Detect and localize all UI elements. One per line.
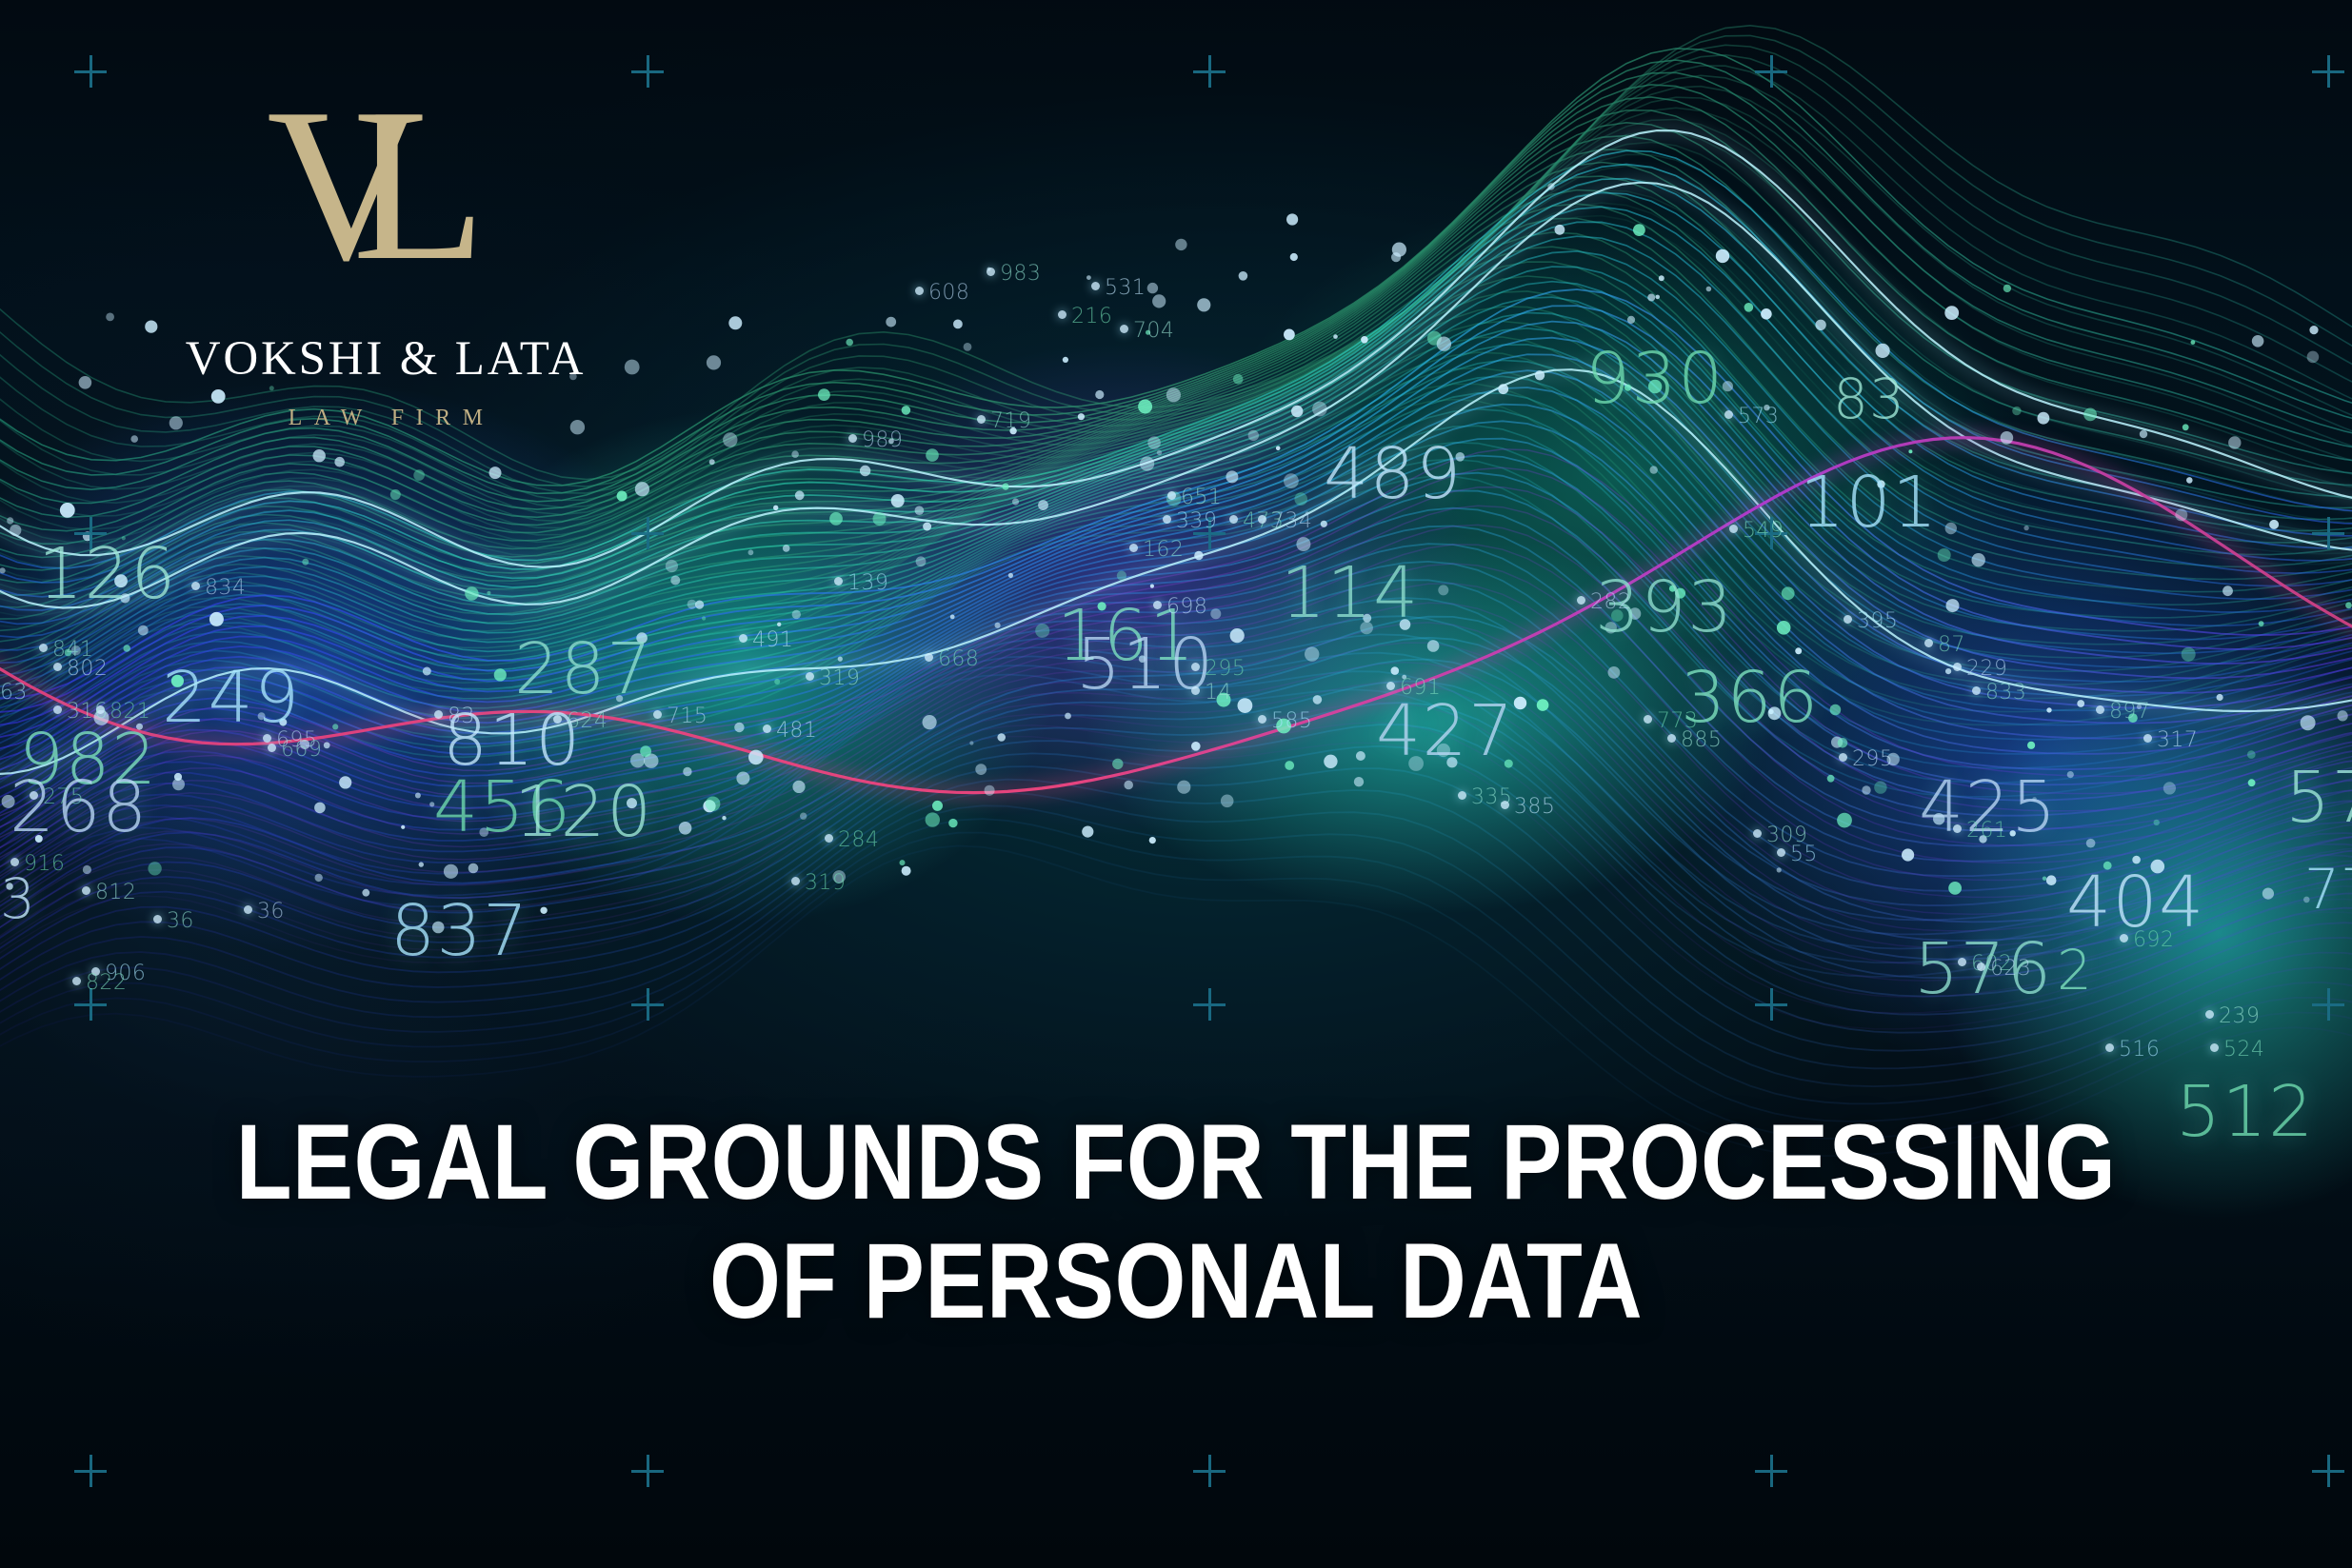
data-node-dot: [415, 793, 421, 799]
data-node-dot: [825, 834, 833, 843]
wave-line: [0, 703, 2352, 997]
data-node-dot: [2205, 1010, 2214, 1019]
data-node-dot: [1716, 249, 1729, 263]
page-title-line-1: LEGAL GROUNDS FOR THE PROCESSING: [236, 1102, 2117, 1221]
data-node-dot: [1458, 791, 1466, 800]
data-node-dot: [148, 862, 161, 875]
data-node-dot: [1139, 655, 1146, 663]
data-node-dot: [2023, 526, 2028, 530]
cross-marker-icon: [2312, 1455, 2344, 1487]
data-node-dot: [1221, 795, 1234, 808]
data-value-label: 651: [1181, 486, 1222, 509]
data-node-dot: [1837, 813, 1852, 828]
data-node-dot: [390, 489, 401, 500]
data-value-label: 284: [838, 828, 879, 852]
cross-marker-icon: [1755, 1455, 1787, 1487]
data-node-dot: [1764, 405, 1769, 410]
wave-line: [0, 616, 2352, 920]
wave-line: [0, 683, 2352, 981]
data-node-dot: [1744, 303, 1754, 312]
data-node-dot: [172, 778, 185, 790]
data-node-dot: [1675, 588, 1685, 599]
data-node-dot: [1248, 430, 1259, 441]
data-node-dot: [258, 712, 266, 720]
data-node-dot: [1611, 609, 1624, 622]
data-node-dot: [1078, 413, 1085, 420]
data-node-dot: [1953, 663, 1962, 671]
wave-line: [0, 467, 2352, 841]
data-value-label: 55: [1790, 843, 1818, 866]
data-node-dot: [1438, 585, 1448, 595]
data-node-dot: [1977, 963, 1985, 971]
data-node-dot: [1354, 777, 1364, 786]
data-node-dot: [2077, 700, 2084, 707]
data-node-dot: [1191, 663, 1200, 671]
data-node-dot: [2252, 335, 2264, 347]
data-value-label: 983: [1000, 262, 1041, 286]
data-node-dot: [1650, 466, 1658, 473]
data-node-dot: [468, 863, 479, 874]
data-value-label: 841: [52, 638, 93, 662]
wave-line: [0, 660, 2352, 960]
data-value-label: 491: [752, 628, 793, 652]
data-node-dot: [1120, 325, 1128, 333]
data-node-dot: [2032, 797, 2037, 802]
data-value-label: 773: [1657, 709, 1698, 733]
data-node-dot: [2132, 856, 2141, 864]
wave-line: [0, 472, 2352, 870]
data-node-dot: [2154, 820, 2160, 825]
firm-tagline: LAW FIRM: [167, 406, 605, 431]
data-node-dot: [1831, 737, 1843, 748]
data-node-dot: [553, 715, 562, 724]
data-node-dot: [1782, 586, 1795, 600]
data-value-label: 282: [1590, 590, 1631, 614]
data-node-dot: [2046, 875, 2057, 885]
data-value-label: 319: [819, 666, 860, 690]
data-node-dot: [2010, 830, 2016, 836]
data-node-dot: [1386, 682, 1395, 690]
data-node-dot: [1276, 447, 1281, 451]
data-value-label: 989: [862, 428, 903, 452]
data-node-dot: [1644, 715, 1652, 724]
data-value-label: 481: [776, 719, 817, 743]
data-value-label: 120: [514, 771, 653, 853]
data-node-dot: [846, 339, 853, 347]
data-value-label: 114: [1281, 552, 1420, 634]
data-node-dot: [997, 733, 1006, 742]
data-node-dot: [653, 710, 662, 719]
data-node-dot: [1363, 614, 1371, 623]
data-node-dot: [1391, 666, 1400, 675]
data-node-dot: [1098, 602, 1106, 610]
wave-line: [0, 390, 2352, 795]
data-node-dot: [1724, 410, 1733, 419]
data-value-label: 36: [257, 900, 285, 923]
data-node-dot: [706, 797, 721, 812]
data-node-dot: [1191, 742, 1201, 751]
data-value-label: 821: [110, 700, 150, 724]
data-node-dot: [1312, 402, 1327, 417]
data-node-dot: [948, 819, 957, 827]
data-value-label: 510: [1076, 624, 1215, 705]
data-value-label: 916: [24, 852, 65, 876]
data-node-dot: [1629, 607, 1642, 620]
data-value-label: 339: [1176, 509, 1217, 533]
data-node-dot: [1402, 675, 1406, 680]
data-node-dot: [1294, 492, 1307, 506]
data-node-dot: [1157, 450, 1162, 455]
data-value-label: 608: [928, 281, 969, 305]
data-node-dot: [777, 623, 781, 626]
data-value-label: 585: [1271, 709, 1312, 733]
data-value-label: 516: [2119, 1038, 2160, 1062]
data-node-dot: [635, 482, 649, 496]
data-node-dot: [1655, 295, 1660, 300]
data-node-dot: [964, 343, 972, 351]
data-node-dot: [616, 695, 623, 702]
wave-line: [0, 766, 2352, 1051]
data-node-dot: [1163, 515, 1171, 524]
data-node-dot: [2096, 705, 2104, 714]
wave-line: [0, 400, 2352, 750]
data-node-dot: [174, 773, 182, 781]
data-node-dot: [1408, 756, 1424, 771]
wave-line: [0, 780, 2352, 1069]
data-node-dot: [1555, 225, 1565, 235]
data-node-dot: [670, 576, 680, 586]
data-node-dot: [2140, 430, 2147, 438]
data-node-dot: [1290, 253, 1298, 261]
data-value-label: 249: [162, 657, 301, 739]
data-value-label: 404: [2066, 862, 2205, 943]
data-value-label: 101: [1800, 462, 1939, 544]
data-node-dot: [2120, 934, 2128, 943]
wave-line: [0, 508, 2352, 855]
data-node-dot: [0, 567, 6, 573]
data-node-dot: [2183, 424, 2189, 430]
data-value-label: 489: [1324, 433, 1463, 515]
data-node-dot: [315, 874, 323, 882]
data-node-dot: [2303, 897, 2310, 903]
data-node-dot: [1065, 713, 1071, 720]
data-node-dot: [1296, 537, 1310, 551]
data-node-dot: [975, 764, 987, 775]
data-node-dot: [2163, 782, 2176, 794]
data-node-dot: [2186, 477, 2193, 484]
data-node-dot: [53, 705, 62, 714]
data-node-dot: [1777, 867, 1782, 872]
data-node-dot: [362, 889, 369, 897]
data-value-label: 704: [1133, 319, 1174, 343]
data-node-dot: [774, 679, 780, 685]
data-value-label: 834: [205, 576, 246, 600]
data-value-label: 427: [1376, 690, 1515, 772]
data-node-dot: [2012, 407, 2021, 415]
wave-line: [0, 819, 2352, 1121]
data-node-dot: [1501, 801, 1509, 809]
data-value-label: 802: [67, 657, 108, 681]
data-node-dot: [1945, 668, 1951, 674]
data-node-dot: [1633, 224, 1645, 236]
data-node-dot: [138, 625, 149, 636]
data-node-dot: [1238, 698, 1253, 713]
poster-canvas: 1262499822682878104561208371615101144899…: [0, 0, 2352, 1568]
data-value-label: 695: [276, 728, 317, 752]
data-node-dot: [1948, 882, 1962, 895]
data-node-dot: [1175, 239, 1186, 250]
cross-marker-icon: [631, 1455, 664, 1487]
wave-line: [0, 421, 2352, 803]
data-node-dot: [915, 506, 925, 515]
data-node-dot: [1535, 370, 1545, 380]
data-value-label: 295: [1205, 657, 1246, 681]
data-node-dot: [688, 600, 697, 609]
data-node-dot: [1777, 621, 1791, 635]
wave-line: [0, 724, 2352, 1015]
cross-marker-icon: [631, 988, 664, 1021]
data-node-dot: [487, 591, 490, 595]
cross-marker-icon: [1755, 517, 1787, 549]
data-node-dot: [1152, 294, 1166, 308]
wave-line: [0, 634, 2352, 934]
data-node-dot: [1815, 320, 1825, 330]
data-value-label: 885: [1681, 728, 1722, 752]
data-node-dot: [1456, 452, 1465, 462]
data-node-dot: [1324, 755, 1337, 768]
data-node-dot: [1795, 647, 1802, 654]
data-node-dot: [1627, 316, 1635, 324]
data-node-dot: [1217, 693, 1231, 707]
data-node-dot: [2083, 408, 2097, 422]
data-node-dot: [1753, 829, 1762, 838]
data-node-dot: [1446, 757, 1457, 767]
cross-marker-icon: [2312, 55, 2344, 88]
data-value-label: 930: [1585, 338, 1724, 420]
data-value-label: 906: [105, 962, 146, 985]
data-node-dot: [91, 967, 100, 976]
data-node-dot: [1400, 619, 1411, 630]
data-node-dot: [709, 459, 715, 465]
data-node-dot: [72, 977, 81, 985]
wave-line: [0, 665, 2352, 963]
data-node-dot: [926, 448, 939, 462]
wave-line: [0, 459, 2352, 804]
pink-signature-curve: [0, 438, 2352, 793]
data-node-dot: [625, 360, 640, 375]
data-node-dot: [2269, 520, 2279, 529]
wave-line: [0, 431, 2352, 833]
data-node-dot: [950, 615, 955, 620]
data-node-dot: [432, 922, 445, 934]
wave-line: [0, 449, 2352, 827]
data-node-dot: [1149, 837, 1156, 844]
data-node-dot: [1166, 491, 1182, 506]
data-value-label: 623: [1990, 957, 2031, 981]
data-value-label: 161: [1057, 595, 1196, 677]
data-node-dot: [244, 905, 252, 914]
cross-marker-icon: [631, 55, 664, 88]
data-node-dot: [1706, 287, 1712, 292]
data-node-dot: [494, 668, 507, 681]
data-node-dot: [53, 663, 62, 671]
data-node-dot: [1839, 753, 1847, 762]
wave-line: [0, 805, 2352, 1103]
cross-marker-icon: [1193, 55, 1226, 88]
data-node-dot: [1356, 751, 1365, 761]
data-node-dot: [722, 816, 726, 820]
cross-marker-icon: [631, 517, 664, 549]
data-node-dot: [2217, 694, 2223, 701]
data-node-dot: [79, 376, 92, 389]
wave-line: [0, 703, 2352, 997]
data-node-dot: [332, 724, 338, 729]
data-node-dot: [419, 862, 424, 866]
data-node-dot: [1197, 298, 1210, 311]
data-node-dot: [2103, 862, 2112, 870]
data-node-dot: [83, 531, 92, 541]
data-node-dot: [153, 915, 162, 923]
wave-line: [0, 564, 2352, 903]
data-value-label: 162: [1143, 538, 1184, 562]
data-node-dot: [2128, 713, 2138, 723]
wave-line: [0, 409, 2352, 779]
data-node-dot: [300, 740, 309, 749]
data-node-dot: [888, 439, 894, 445]
wave-line: [0, 506, 2352, 867]
data-node-dot: [2143, 734, 2152, 743]
wave-line: [0, 643, 2352, 947]
data-node-dot: [806, 672, 814, 681]
data-node-dot: [434, 710, 443, 719]
wave-line: [0, 491, 2352, 846]
data-node-dot: [644, 754, 658, 768]
data-node-dot: [2259, 621, 2264, 626]
data-node-dot: [1924, 639, 1933, 647]
wave-line: [0, 737, 2352, 1029]
cross-marker-icon: [1193, 517, 1226, 549]
data-node-dot: [748, 750, 764, 765]
data-value-label: 385: [1514, 795, 1555, 819]
data-node-dot: [832, 870, 846, 883]
data-node-dot: [1972, 686, 1981, 695]
wave-line: [0, 580, 2352, 891]
data-node-dot: [1124, 781, 1133, 790]
data-node-dot: [1138, 400, 1152, 414]
data-node-dot: [2262, 888, 2274, 900]
cross-marker-icon: [2312, 517, 2344, 549]
pink-signature-curve-glow: [0, 438, 2352, 793]
data-value-label: 77: [2304, 857, 2352, 922]
cross-marker-icon: [74, 1455, 107, 1487]
data-node-dot: [1958, 958, 1966, 966]
data-node-dot: [413, 469, 425, 481]
brand-logo[interactable]: V L VOKSHI & LATA LAW FIRM: [167, 133, 605, 431]
data-value-label: 36: [167, 909, 194, 933]
page-title-line-2: OF PERSONAL DATA: [165, 1221, 2187, 1340]
wave-line: [0, 384, 2352, 742]
data-node-dot: [1117, 571, 1126, 581]
data-node-dot: [640, 745, 651, 757]
data-node-dot: [82, 886, 90, 895]
data-node-dot: [122, 536, 126, 540]
data-node-dot: [1838, 738, 1848, 748]
data-node-dot: [314, 803, 326, 814]
data-node-dot: [932, 801, 943, 811]
data-node-dot: [891, 494, 905, 507]
wave-line: [0, 439, 2352, 815]
data-value-label: 692: [2133, 928, 2174, 952]
data-node-dot: [995, 623, 1001, 628]
data-node-dot: [2248, 779, 2256, 786]
data-node-dot: [2309, 326, 2318, 334]
data-node-dot: [1938, 548, 1951, 562]
data-node-dot: [1321, 521, 1327, 527]
data-node-dot: [703, 800, 715, 812]
cross-marker-icon: [1193, 1455, 1226, 1487]
data-value-label: 316: [67, 700, 108, 724]
data-node-dot: [2301, 715, 2316, 730]
data-node-dot: [39, 644, 48, 652]
data-node-dot: [818, 388, 830, 401]
wave-line: [0, 525, 2352, 880]
cross-marker-icon: [74, 517, 107, 549]
wave-line: [0, 584, 2352, 914]
data-node-dot: [1647, 294, 1655, 302]
data-node-dot: [2067, 771, 2074, 778]
data-node-dot: [1063, 357, 1068, 363]
data-node-dot: [1146, 330, 1150, 335]
firm-name: VOKSHI & LATA: [167, 331, 605, 387]
data-node-dot: [2137, 705, 2142, 709]
data-node-dot: [1874, 781, 1886, 793]
data-value-label: 3: [0, 866, 36, 931]
data-node-dot: [1514, 697, 1526, 709]
data-node-dot: [1605, 622, 1617, 633]
data-node-dot: [1035, 624, 1049, 638]
data-value-label: 229: [1966, 657, 2007, 681]
page-title: LEGAL GROUNDS FOR THE PROCESSING OF PERS…: [165, 1102, 2187, 1341]
data-node-dot: [723, 432, 737, 447]
data-node-dot: [923, 715, 937, 729]
wave-line: [0, 473, 2352, 836]
data-node-dot: [1276, 719, 1291, 734]
data-node-dot: [1392, 243, 1406, 257]
data-node-dot: [120, 593, 130, 603]
data-node-dot: [1723, 381, 1733, 391]
data-node-dot: [1229, 515, 1238, 524]
data-node-dot: [1194, 551, 1203, 560]
data-node-dot: [916, 556, 927, 566]
data-node-dot: [1844, 615, 1852, 624]
data-value-label: 573: [1738, 405, 1779, 428]
data-node-dot: [1537, 699, 1549, 711]
data-node-dot: [2307, 351, 2320, 364]
data-node-dot: [795, 490, 805, 500]
data-node-dot: [114, 574, 128, 587]
data-node-dot: [2175, 508, 2187, 521]
data-value-label: 83: [448, 705, 475, 728]
data-node-dot: [783, 545, 790, 552]
data-value-label: 295: [1852, 747, 1893, 771]
data-node-dot: [1946, 599, 1960, 612]
data-node-dot: [2027, 742, 2035, 749]
data-node-dot: [1761, 308, 1772, 320]
wave-line: [0, 387, 2352, 778]
wave-line: [0, 603, 2352, 924]
data-node-dot: [1082, 826, 1093, 838]
data-node-dot: [1908, 449, 1912, 453]
